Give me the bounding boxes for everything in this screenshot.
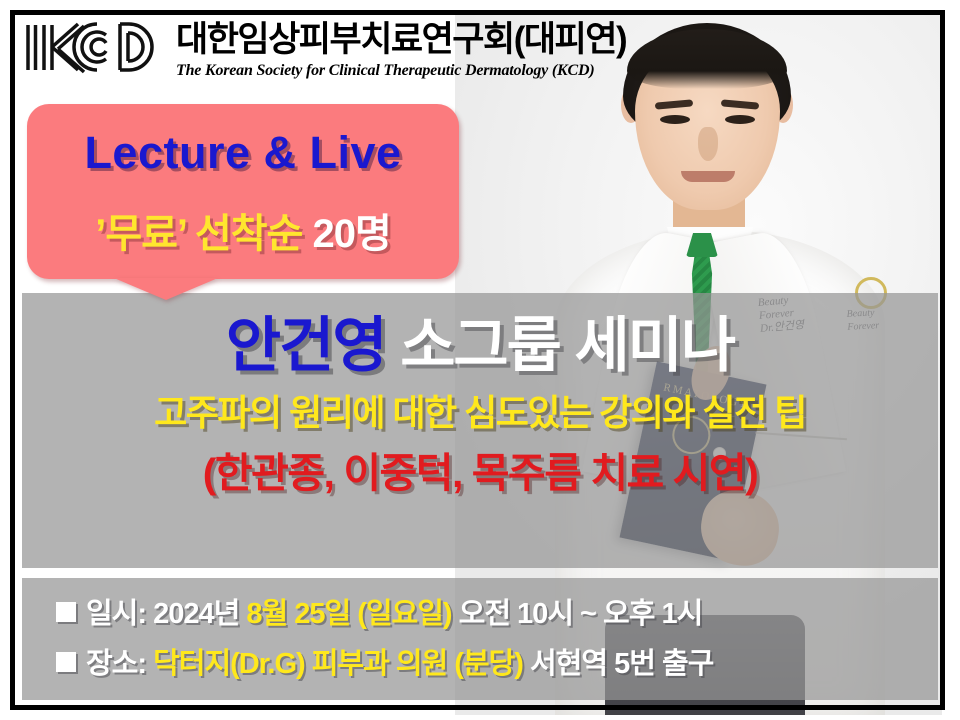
seminar-subtitle: 고주파의 원리에 대한 심도있는 강의와 실전 팁	[154, 389, 806, 437]
venue-highlight: 닥터지(Dr.G) 피부과 의원 (분당)	[153, 648, 523, 680]
date-highlight: 8월 25일 (일요일)	[246, 598, 451, 630]
date-time-range: 오전 10시 ~ 오후 1시	[459, 598, 703, 630]
free-seats-line: ’무료’ 선착순 20명	[95, 201, 391, 259]
nose	[698, 127, 718, 161]
poster-root: RMATOLOGY BeautyForeverDr.안건영 BeautyFore…	[0, 0, 960, 720]
bubble-tail	[114, 278, 218, 300]
society-name-korean: 대한임상피부치료연구회(대피연)	[176, 20, 626, 60]
date-label: 일시:	[86, 598, 146, 630]
square-bullet-icon	[56, 602, 76, 622]
kcd-logo-icon	[22, 18, 164, 76]
seminar-title: 안건영 소그룹 세미나	[226, 309, 734, 383]
first-come-label: 선착순	[195, 212, 302, 256]
speaker-name: 안건영	[226, 312, 386, 379]
eye-right	[725, 115, 755, 124]
promo-bubble: Lecture & Live ’무료’ 선착순 20명	[27, 104, 459, 279]
capacity-label: 20명	[312, 212, 390, 256]
free-label: ’무료’	[95, 212, 186, 256]
seminar-demo-list: (한관종, 이중턱, 목주름 치료 시연)	[203, 445, 758, 501]
square-bullet-icon	[56, 652, 76, 672]
venue-directions: 서현역 5번 출구	[530, 648, 713, 680]
seminar-type-label: 소그룹 세미나	[400, 312, 734, 379]
lecture-live-label: Lecture & Live	[84, 127, 401, 179]
date-prefix: 2024년	[153, 598, 239, 630]
eye-left	[660, 115, 690, 124]
main-title-panel: 안건영 소그룹 세미나 고주파의 원리에 대한 심도있는 강의와 실전 팁 (한…	[22, 293, 938, 568]
venue-line: 장소: 닥터지(Dr.G) 피부과 의원 (분당) 서현역 5번 출구	[56, 639, 938, 689]
society-header: 대한임상피부치료연구회(대피연) The Korean Society for …	[22, 18, 626, 90]
mouth	[681, 171, 735, 182]
society-name-english: The Korean Society for Clinical Therapeu…	[176, 61, 626, 81]
event-details-panel: 일시: 2024년 8월 25일 (일요일) 오전 10시 ~ 오후 1시 장소…	[22, 578, 938, 700]
venue-label: 장소:	[86, 648, 146, 680]
date-line: 일시: 2024년 8월 25일 (일요일) 오전 10시 ~ 오후 1시	[56, 589, 938, 639]
